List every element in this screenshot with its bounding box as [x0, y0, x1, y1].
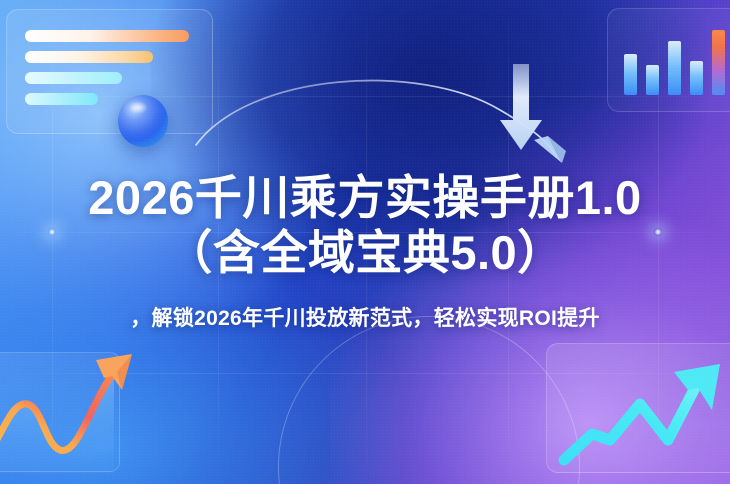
down-arrow-icon: [497, 62, 545, 162]
promo-poster: 2026千川乘方实操手册1.0 （含全域宝典5.0） ，解锁2026年千川投放新…: [0, 0, 730, 484]
page-title-line-1: 2026千川乘方实操手册1.0: [88, 171, 641, 224]
page-subtitle: ，解锁2026年千川投放新范式，轻松实现ROI提升: [0, 302, 730, 332]
page-title: 2026千川乘方实操手册1.0 （含全域宝典5.0）: [0, 170, 730, 280]
rising-line-chart-orange-icon: [0, 344, 186, 474]
page-title-line-2: （含全域宝典5.0）: [0, 225, 730, 280]
headline-block: 2026千川乘方实操手册1.0 （含全域宝典5.0） ，解锁2026年千川投放新…: [0, 170, 730, 332]
rising-zigzag-arrow-cyan-icon: [548, 348, 730, 484]
